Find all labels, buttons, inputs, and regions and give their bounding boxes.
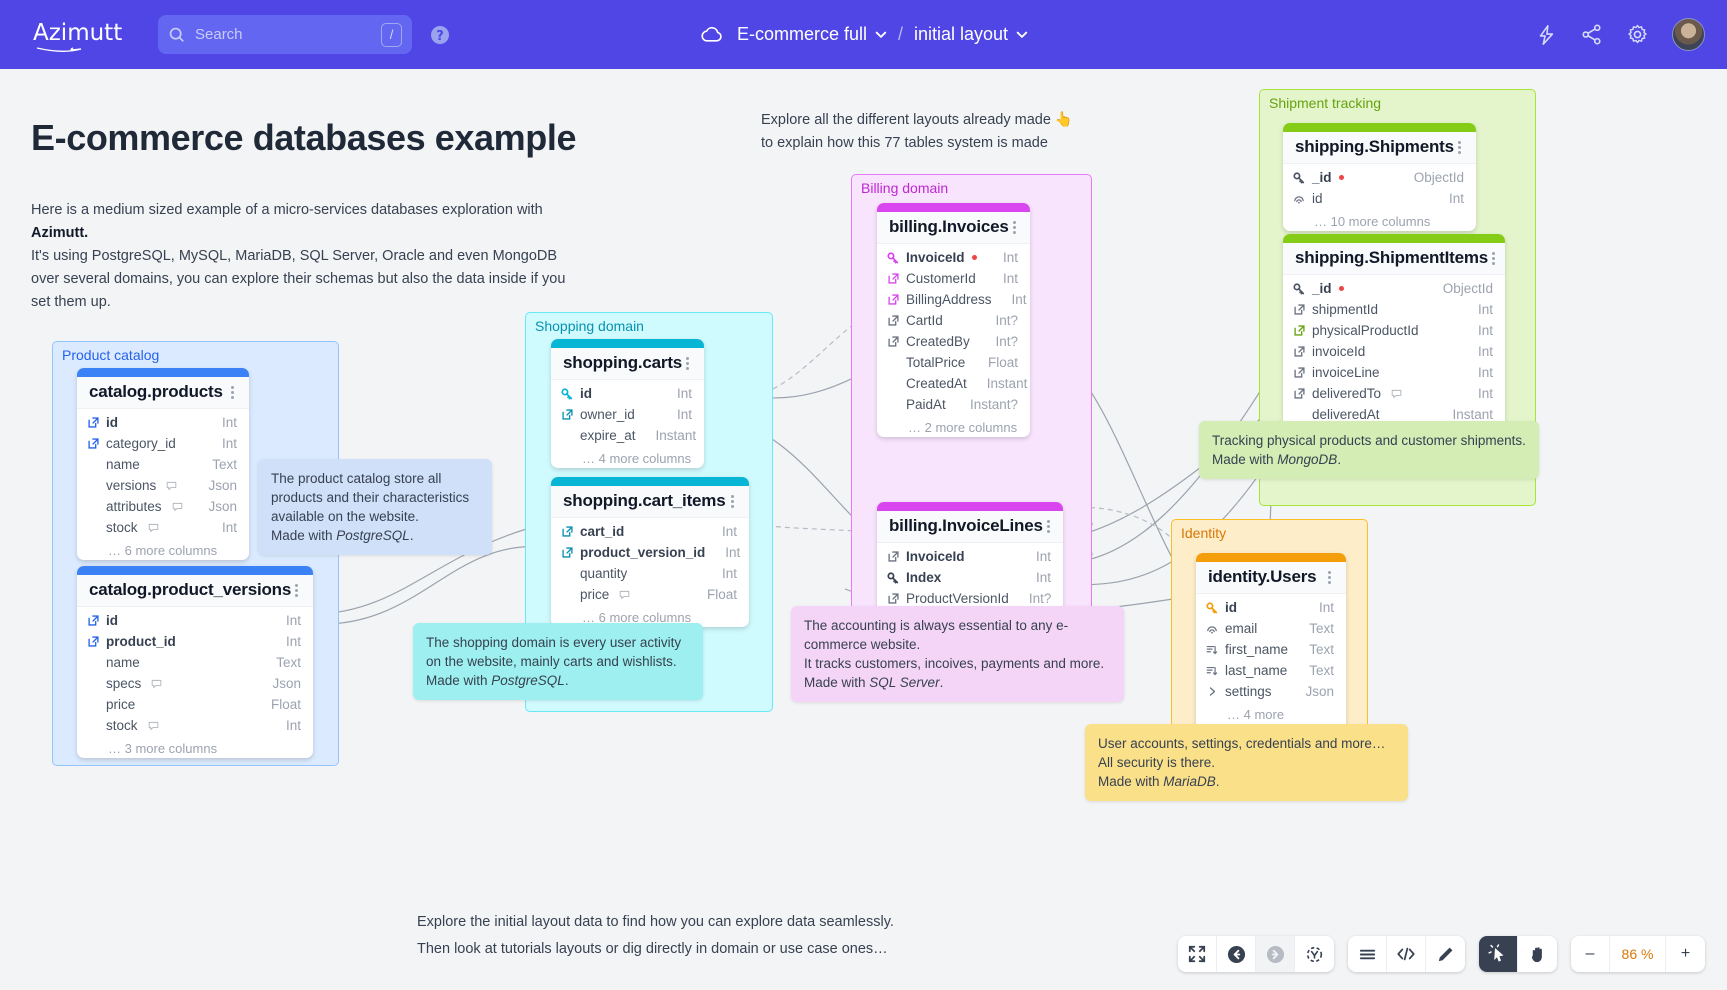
column-type: ObjectId: [1429, 281, 1493, 296]
group-label: Identity: [1181, 525, 1226, 541]
column-type: Int: [1305, 600, 1334, 615]
search-placeholder: Search: [195, 26, 381, 43]
column-type: Int: [708, 566, 737, 581]
column-name: versions: [106, 478, 156, 493]
table-menu-icon[interactable]: [291, 582, 302, 599]
table-header[interactable]: billing.InvoiceLines: [877, 511, 1063, 543]
column-name: price: [580, 587, 609, 602]
pencil-icon: [1436, 945, 1455, 964]
panel-group: [1348, 936, 1465, 972]
column-comment-icon[interactable]: [1391, 388, 1402, 399]
app-logo[interactable]: Azimutt: [33, 18, 125, 52]
table-column[interactable]: first_nameText: [1196, 639, 1346, 660]
column-comment-icon[interactable]: [148, 522, 159, 533]
table-columns: idIntemailTextfirst_nameTextlast_nameTex…: [1196, 594, 1346, 706]
table-title: shopping.cart_items: [563, 491, 725, 511]
column-type: Int: [208, 436, 237, 451]
column-name: Index: [906, 570, 941, 585]
column-name: _id: [1312, 170, 1332, 185]
table-catalog-products[interactable]: catalog.productsidIntcategory_idIntnameT…: [77, 368, 249, 560]
share-icon[interactable]: [1580, 23, 1603, 46]
table-color-bar: [1283, 234, 1505, 243]
column-type: Int: [208, 415, 237, 430]
intro-line-2: It's using PostgreSQL, MySQL, MariaDB, S…: [31, 248, 557, 264]
view-group: [1178, 936, 1334, 972]
table-columns: cart_idIntproduct_version_idIntquantityI…: [551, 518, 749, 609]
table-column[interactable]: priceFloat: [551, 584, 749, 605]
azimutt-logo-icon: Azimutt: [33, 18, 125, 52]
column-name: stock: [106, 520, 138, 535]
table-column[interactable]: TotalPriceFloat: [877, 352, 1030, 373]
svg-text:Azimutt: Azimutt: [33, 20, 122, 46]
cloud-icon: [699, 25, 726, 45]
column-name: BillingAddress: [906, 292, 992, 307]
table-columns: _idObjectIdidInt: [1283, 164, 1476, 213]
table-color-bar: [77, 368, 249, 377]
table-column[interactable]: product_version_idInt: [551, 542, 749, 563]
table-column[interactable]: CustomerIdInt: [877, 268, 1030, 289]
zoom-in-button[interactable]: +: [1666, 936, 1705, 972]
column-name: settings: [1225, 684, 1272, 699]
intro-line-3: over several domains, you can explore th…: [31, 271, 538, 287]
table-column[interactable]: invoiceIdInt: [1283, 341, 1505, 362]
column-type: Int: [663, 386, 692, 401]
table-more-columns[interactable]: … 10 more columns: [1283, 213, 1476, 231]
table-column[interactable]: InvoiceIdInt: [877, 247, 1030, 268]
table-title: identity.Users: [1208, 567, 1316, 587]
column-type: Float: [693, 587, 737, 602]
table-header[interactable]: shipping.Shipments: [1283, 132, 1476, 164]
table-column[interactable]: idInt: [77, 610, 313, 631]
table-column[interactable]: CreatedAtInstant: [877, 373, 1030, 394]
column-name: id: [1312, 191, 1323, 206]
table-column[interactable]: BillingAddressInt: [877, 289, 1030, 310]
column-type: Int: [1464, 302, 1493, 317]
column-type: Json: [194, 499, 237, 514]
table-title: catalog.products: [89, 382, 223, 402]
table-column[interactable]: specsJson: [77, 673, 313, 694]
table-title: shipping.ShipmentItems: [1295, 248, 1488, 268]
table-header[interactable]: catalog.products: [77, 377, 249, 409]
table-columns: idIntcategory_idIntnameTextversionsJsona…: [77, 409, 249, 542]
column-fk-icon: [1292, 388, 1306, 399]
table-column[interactable]: priceFloat: [77, 694, 313, 715]
breadcrumb-layout-label: initial layout: [914, 24, 1008, 45]
column-fk-icon: [86, 615, 100, 626]
column-pk-icon: [886, 252, 900, 264]
table-color-bar: [1196, 553, 1346, 562]
note-line: Made with PostgreSQL.: [426, 671, 690, 690]
user-avatar[interactable]: [1672, 18, 1705, 51]
table-menu-icon[interactable]: [1324, 569, 1335, 586]
column-fk-icon: [560, 547, 574, 558]
column-name: id: [106, 415, 118, 430]
table-column[interactable]: stockInt: [77, 715, 313, 736]
column-fk-icon: [1292, 304, 1306, 315]
column-pk-icon: [1292, 283, 1306, 295]
note-line: It tracks customers, incoives, payments …: [804, 654, 1111, 673]
search-shortcut-key: /: [381, 23, 402, 47]
table-columns: _idObjectIdshipmentIdIntphysicalProductI…: [1283, 275, 1505, 429]
column-name: _id: [1312, 281, 1332, 296]
code-icon: [1396, 944, 1416, 964]
column-type: Text: [1295, 663, 1334, 678]
explore-note-line-1: to explain how this 77 tables system is …: [761, 132, 1073, 155]
note-line: on the website, mainly carts and wishlis…: [426, 652, 690, 671]
table-header[interactable]: shipping.ShipmentItems: [1283, 243, 1505, 275]
column-type: Text: [1295, 621, 1334, 636]
column-srt-icon: [1205, 665, 1219, 677]
table-menu-icon[interactable]: [1488, 250, 1499, 267]
hand-icon: [1528, 945, 1547, 964]
column-fk-icon: [886, 273, 900, 284]
column-name: name: [106, 457, 140, 472]
arrow-left-circle-icon: [1227, 945, 1246, 964]
table-column[interactable]: idInt: [1283, 188, 1476, 209]
explore-note: Explore all the different layouts alread…: [761, 109, 1073, 155]
column-fk-icon: [886, 551, 900, 562]
table-column[interactable]: physicalProductIdInt: [1283, 320, 1505, 341]
fit-to-screen-button[interactable]: [1178, 936, 1217, 972]
column-fk-icon: [86, 417, 100, 428]
layout-button[interactable]: [1295, 936, 1334, 972]
table-menu-icon[interactable]: [727, 493, 738, 510]
column-name: CreatedBy: [906, 334, 970, 349]
column-name: product_id: [106, 634, 176, 649]
breadcrumb: E-commerce full / initial layout: [699, 24, 1028, 45]
column-fk-icon: [886, 593, 900, 604]
column-type: Float: [257, 697, 301, 712]
zoom-level-label: 86 %: [1610, 936, 1666, 972]
table-title: catalog.product_versions: [89, 580, 291, 600]
breadcrumb-project[interactable]: E-commerce full: [737, 24, 887, 45]
zoom-group: – 86 % +: [1571, 936, 1705, 972]
note-shipment-tracking[interactable]: Tracking physical products and customer …: [1199, 421, 1539, 479]
column-type: Json: [1291, 684, 1334, 699]
table-title: shopping.carts: [563, 353, 682, 373]
table-shopping-cart-items[interactable]: shopping.cart_itemscart_idIntproduct_ver…: [551, 477, 749, 627]
column-pk-icon: [560, 388, 574, 400]
column-comment-icon[interactable]: [166, 480, 177, 491]
column-name: PaidAt: [906, 397, 946, 412]
table-column[interactable]: idInt: [1196, 597, 1346, 618]
table-menu-icon[interactable]: [1043, 518, 1054, 535]
table-column[interactable]: shipmentIdInt: [1283, 299, 1505, 320]
table-column[interactable]: last_nameText: [1196, 660, 1346, 681]
table-column[interactable]: idInt: [551, 383, 704, 404]
table-column[interactable]: product_idInt: [77, 631, 313, 652]
column-type: Int?: [981, 334, 1018, 349]
table-header[interactable]: shopping.cart_items: [551, 486, 749, 518]
column-type: Int: [1022, 549, 1051, 564]
table-shopping-carts[interactable]: shopping.cartsidIntowner_idIntexpire_atI…: [551, 339, 704, 468]
column-name: shipmentId: [1312, 302, 1378, 317]
column-name: CustomerId: [906, 271, 976, 286]
lightning-icon[interactable]: [1535, 24, 1557, 46]
intro-line-1: Azimutt.: [31, 225, 88, 241]
column-comment-icon[interactable]: [619, 589, 630, 600]
arrow-right-circle-icon: [1266, 945, 1285, 964]
column-comment-icon[interactable]: [151, 678, 162, 689]
note-product-catalog[interactable]: The product catalog store allproducts an…: [258, 459, 492, 555]
column-type: Int: [1464, 323, 1493, 338]
table-shipping-shipments[interactable]: shipping.Shipments_idObjectIdidInt… 10 m…: [1283, 123, 1476, 231]
table-column[interactable]: InvoiceIdInt: [877, 546, 1063, 567]
table-columns: idIntowner_idIntexpire_atInstant: [551, 380, 704, 450]
column-fk-icon: [560, 526, 574, 537]
column-type: Json: [258, 676, 301, 691]
column-flag-dot: [1339, 175, 1344, 180]
intro-paragraph: Here is a medium sized example of a micr…: [31, 199, 581, 314]
column-name: InvoiceId: [906, 250, 965, 265]
table-header[interactable]: identity.Users: [1196, 562, 1346, 594]
table-column[interactable]: CreatedByInt?: [877, 331, 1030, 352]
gear-icon[interactable]: [1626, 23, 1649, 46]
note-line: available on the website.: [271, 507, 479, 526]
column-chev-icon: [1205, 686, 1219, 697]
column-type: Int: [1464, 365, 1493, 380]
chevron-down-icon: [874, 28, 887, 41]
column-type: Int?: [1015, 591, 1052, 606]
table-menu-icon[interactable]: [1009, 219, 1020, 236]
table-more-columns[interactable]: … 4 more columns: [551, 450, 704, 468]
breadcrumb-separator: /: [898, 24, 903, 45]
note-identity[interactable]: User accounts, settings, credentials and…: [1085, 724, 1408, 801]
menu-button[interactable]: [1348, 936, 1387, 972]
column-fk-icon: [86, 636, 100, 647]
zoom-out-button[interactable]: –: [1571, 936, 1610, 972]
note-line: Tracking physical products and customer …: [1212, 431, 1526, 450]
note-billing-domain[interactable]: The accounting is always essential to an…: [791, 606, 1124, 702]
table-menu-icon[interactable]: [682, 355, 693, 372]
column-type: Instant: [642, 428, 697, 443]
table-more-columns[interactable]: … 3 more columns: [77, 740, 313, 758]
table-menu-icon[interactable]: [1454, 139, 1465, 156]
column-name: id: [580, 386, 592, 401]
table-column[interactable]: invoiceLineInt: [1283, 362, 1505, 383]
column-idx-icon: [1205, 623, 1219, 635]
note-line: Made with MariaDB.: [1098, 772, 1395, 791]
column-fk-icon: [1292, 367, 1306, 378]
intro-line-0: Here is a medium sized example of a micr…: [31, 202, 543, 218]
note-line: The shopping domain is every user activi…: [426, 633, 690, 652]
column-type: Text: [198, 457, 237, 472]
column-type: Int: [708, 524, 737, 539]
column-name: email: [1225, 621, 1257, 636]
column-fk-icon: [86, 438, 100, 449]
group-label: Product catalog: [62, 347, 159, 363]
column-idx-icon: [1292, 193, 1306, 205]
column-fk-icon: [560, 409, 574, 420]
column-name: product_version_id: [580, 545, 705, 560]
table-column[interactable]: CartIdInt?: [877, 310, 1030, 331]
cursor-click-icon: [1488, 944, 1508, 964]
note-line: The product catalog store all: [271, 469, 479, 488]
table-column[interactable]: owner_idInt: [551, 404, 704, 425]
column-name: deliveredAt: [1312, 407, 1380, 422]
table-color-bar: [1283, 123, 1476, 132]
group-label: Shopping domain: [535, 318, 644, 334]
table-title: billing.Invoices: [889, 217, 1009, 237]
column-name: CreatedAt: [906, 376, 967, 391]
column-name: name: [106, 655, 140, 670]
column-type: Int: [663, 407, 692, 422]
column-name: quantity: [580, 566, 627, 581]
expand-icon: [1188, 945, 1206, 963]
column-type: Int: [989, 271, 1018, 286]
footer-line-0: Explore the initial layout data to find …: [417, 909, 894, 936]
group-label: Shipment tracking: [1269, 95, 1381, 111]
diagram-canvas[interactable]: E-commerce databases example Here is a m…: [0, 69, 1727, 990]
table-billing-invoices[interactable]: billing.InvoicesInvoiceIdIntCustomerIdIn…: [877, 203, 1030, 437]
column-type: Int: [711, 545, 740, 560]
page-title: E-commerce databases example: [31, 117, 576, 159]
column-comment-icon[interactable]: [172, 501, 183, 512]
table-column[interactable]: idInt: [77, 412, 249, 433]
column-comment-icon[interactable]: [148, 720, 159, 731]
help-circle-icon[interactable]: ?: [430, 25, 450, 45]
table-color-bar: [551, 477, 749, 486]
column-type: Int: [1464, 344, 1493, 359]
svg-text:?: ?: [436, 29, 444, 44]
column-type: Float: [974, 355, 1018, 370]
column-pk-icon: [1292, 172, 1306, 184]
table-title: billing.InvoiceLines: [889, 516, 1043, 536]
table-column[interactable]: PaidAtInstant?: [877, 394, 1030, 415]
hamburger-icon: [1358, 945, 1377, 964]
table-column[interactable]: expire_atInstant: [551, 425, 704, 446]
column-type: Json: [194, 478, 237, 493]
column-name: TotalPrice: [906, 355, 965, 370]
column-type: Int: [272, 613, 301, 628]
column-type: Int: [1464, 386, 1493, 401]
column-type: Int: [1435, 191, 1464, 206]
chevron-down-icon: [1015, 28, 1028, 41]
column-type: Int: [272, 718, 301, 733]
table-more-columns[interactable]: … 2 more columns: [877, 419, 1030, 437]
column-type: Int: [989, 250, 1018, 265]
column-pk-icon: [886, 572, 900, 584]
pan-tool-button[interactable]: [1518, 936, 1557, 972]
column-type: Int: [998, 292, 1027, 307]
column-type: Int: [1022, 570, 1051, 585]
atom-icon: [1305, 945, 1324, 964]
table-column[interactable]: cart_idInt: [551, 521, 749, 542]
table-shipping-shipmentitems[interactable]: shipping.ShipmentItems_idObjectIdshipmen…: [1283, 234, 1505, 429]
table-column[interactable]: IndexInt: [877, 567, 1063, 588]
code-button[interactable]: [1387, 936, 1426, 972]
column-fk-icon: [1292, 325, 1306, 336]
search-input[interactable]: Search /: [158, 15, 412, 54]
table-column[interactable]: quantityInt: [551, 563, 749, 584]
redo-button[interactable]: [1256, 936, 1295, 972]
search-icon: [168, 26, 185, 43]
note-line: All security is there.: [1098, 753, 1395, 772]
column-type: Text: [262, 655, 301, 670]
column-name: cart_id: [580, 524, 624, 539]
column-name: invoiceId: [1312, 344, 1365, 359]
group-label: Billing domain: [861, 180, 948, 196]
table-column[interactable]: _idObjectId: [1283, 278, 1505, 299]
table-menu-icon[interactable]: [227, 384, 238, 401]
table-color-bar: [877, 502, 1063, 511]
column-name: physicalProductId: [1312, 323, 1419, 338]
table-column[interactable]: emailText: [1196, 618, 1346, 639]
note-line: commerce website.: [804, 635, 1111, 654]
table-column[interactable]: nameText: [77, 454, 249, 475]
column-name: specs: [106, 676, 141, 691]
table-column[interactable]: nameText: [77, 652, 313, 673]
top-navbar: Azimutt Search / ? E-commerce full / ini…: [0, 0, 1727, 69]
column-type: Int?: [981, 313, 1018, 328]
table-header[interactable]: billing.Invoices: [877, 212, 1030, 244]
table-column[interactable]: versionsJson: [77, 475, 249, 496]
breadcrumb-project-label: E-commerce full: [737, 24, 867, 45]
edit-button[interactable]: [1426, 936, 1465, 972]
table-column[interactable]: category_idInt: [77, 433, 249, 454]
column-type: Instant: [973, 376, 1028, 391]
column-name: first_name: [1225, 642, 1288, 657]
column-srt-icon: [1205, 644, 1219, 656]
column-name: price: [106, 697, 135, 712]
column-name: stock: [106, 718, 138, 733]
footer-note: Explore the initial layout data to find …: [417, 909, 894, 963]
column-name: last_name: [1225, 663, 1287, 678]
table-column[interactable]: attributesJson: [77, 496, 249, 517]
footer-line-1: Then look at tutorials layouts or dig di…: [417, 936, 894, 963]
table-title: shipping.Shipments: [1295, 137, 1454, 157]
bottom-toolbar: – 86 % +: [1178, 936, 1705, 972]
table-more-columns[interactable]: … 6 more columns: [77, 542, 249, 560]
note-line: The accounting is always essential to an…: [804, 616, 1111, 635]
column-type: Instant?: [956, 397, 1018, 412]
note-line: products and their characteristics: [271, 488, 479, 507]
column-fk-icon: [886, 294, 900, 305]
table-column[interactable]: stockInt: [77, 517, 249, 538]
column-name: attributes: [106, 499, 162, 514]
table-column[interactable]: _idObjectId: [1283, 167, 1476, 188]
column-name: ProductVersionId: [906, 591, 1009, 606]
column-flag-dot: [1339, 286, 1344, 291]
navbar-actions: [1535, 18, 1705, 51]
note-line: Made with PostgreSQL.: [271, 526, 479, 545]
table-color-bar: [551, 339, 704, 348]
table-header[interactable]: catalog.product_versions: [77, 575, 313, 607]
table-columns: InvoiceIdIntCustomerIdIntBillingAddressI…: [877, 244, 1030, 419]
select-tool-button[interactable]: [1479, 936, 1518, 972]
column-type: Int: [272, 634, 301, 649]
column-fk-icon: [886, 336, 900, 347]
table-header[interactable]: shopping.carts: [551, 348, 704, 380]
table-column[interactable]: settingsJson: [1196, 681, 1346, 702]
cursor-group: [1479, 936, 1557, 972]
column-pk-icon: [1205, 602, 1219, 614]
column-name: category_id: [106, 436, 176, 451]
column-name: expire_at: [580, 428, 636, 443]
note-line: User accounts, settings, credentials and…: [1098, 734, 1395, 753]
table-column[interactable]: deliveredToInt: [1283, 383, 1505, 404]
column-name: invoiceLine: [1312, 365, 1380, 380]
note-line: Made with SQL Server.: [804, 673, 1111, 692]
table-catalog-product-versions[interactable]: catalog.product_versionsidIntproduct_idI…: [77, 566, 313, 758]
table-identity-users[interactable]: identity.UsersidIntemailTextfirst_nameTe…: [1196, 553, 1346, 739]
breadcrumb-layout[interactable]: initial layout: [914, 24, 1028, 45]
table-columns: idIntproduct_idIntnameTextspecsJsonprice…: [77, 607, 313, 740]
column-name: deliveredTo: [1312, 386, 1381, 401]
note-shopping-domain[interactable]: The shopping domain is every user activi…: [413, 623, 703, 700]
undo-button[interactable]: [1217, 936, 1256, 972]
column-type: Text: [1295, 642, 1334, 657]
